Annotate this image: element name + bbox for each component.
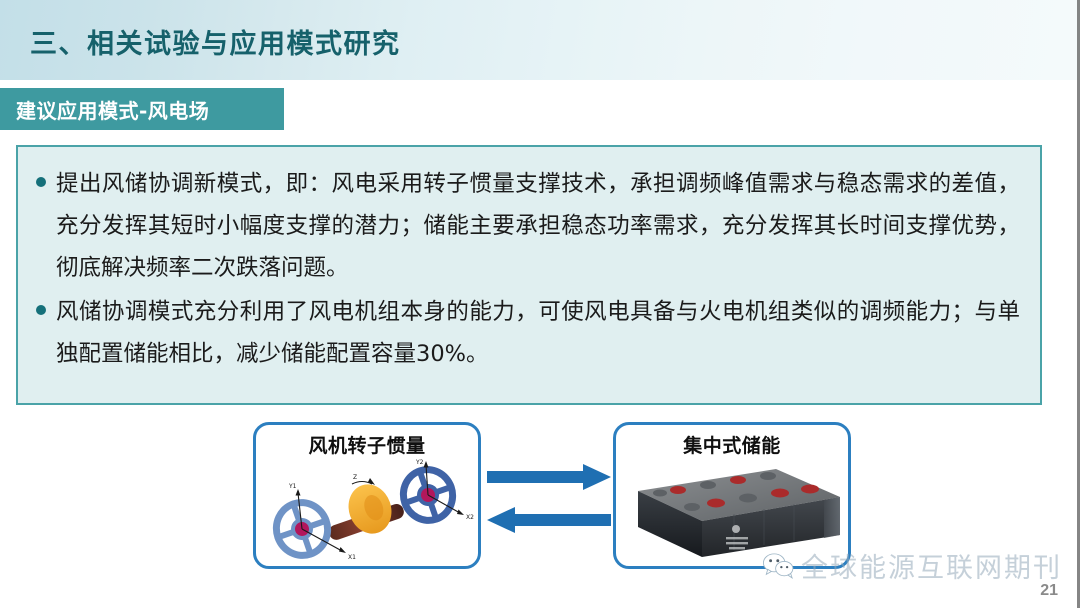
rotor-inertia-figure: Y1 X1 Y2 X2 Z <box>256 457 478 569</box>
watermark-text: 全球能源互联网期刊 <box>801 546 1062 585</box>
slide-canvas: 三、相关试验与应用模式研究 建议应用模式-风电场 提出风储协调新模式，即：风电采… <box>0 0 1080 608</box>
svg-text:Z: Z <box>353 474 357 481</box>
wechat-icon <box>762 545 795 585</box>
svg-text:Y2: Y2 <box>415 459 424 466</box>
bullet-item: 风储协调模式充分利用了风电机组本身的能力，可使风电具备与火电机组类似的调频能力；… <box>36 291 1020 375</box>
arrow-left-icon <box>487 505 611 535</box>
watermark: 全球能源互联网期刊 <box>762 540 1062 590</box>
arrow-rotor-to-storage <box>487 462 611 492</box>
section-badge-label: 建议应用模式-风电场 <box>16 95 209 124</box>
diagram-box-rotor-inertia: 风机转子惯量 <box>253 422 481 569</box>
svg-text:X2: X2 <box>466 514 474 521</box>
bullet-text: 提出风储协调新模式，即：风电采用转子惯量支撑技术，承担调频峰值需求与稳态需求的差… <box>56 163 1020 289</box>
bullet-item: 提出风储协调新模式，即：风电采用转子惯量支撑技术，承担调频峰值需求与稳态需求的差… <box>36 163 1020 289</box>
page-number: 21 <box>1040 582 1058 600</box>
diagram-box-rotor-caption: 风机转子惯量 <box>256 431 478 458</box>
rotor-inertia-icon: Y1 X1 Y2 X2 Z <box>256 457 484 569</box>
bullet-dot-icon <box>36 305 46 315</box>
bullet-text: 风储协调模式充分利用了风电机组本身的能力，可使风电具备与火电机组类似的调频能力；… <box>56 291 1020 375</box>
diagram-box-storage-caption: 集中式储能 <box>616 431 848 458</box>
page-title: 三、相关试验与应用模式研究 <box>30 22 401 61</box>
arrow-storage-to-rotor <box>487 505 611 535</box>
arrow-right-icon <box>487 462 611 492</box>
svg-text:Y1: Y1 <box>288 483 297 490</box>
content-panel: 提出风储协调新模式，即：风电采用转子惯量支撑技术，承担调频峰值需求与稳态需求的差… <box>16 145 1042 405</box>
section-badge: 建议应用模式-风电场 <box>0 88 284 130</box>
slide-header-band: 三、相关试验与应用模式研究 <box>0 0 1080 80</box>
svg-text:X1: X1 <box>348 554 356 561</box>
bullet-dot-icon <box>36 177 46 187</box>
